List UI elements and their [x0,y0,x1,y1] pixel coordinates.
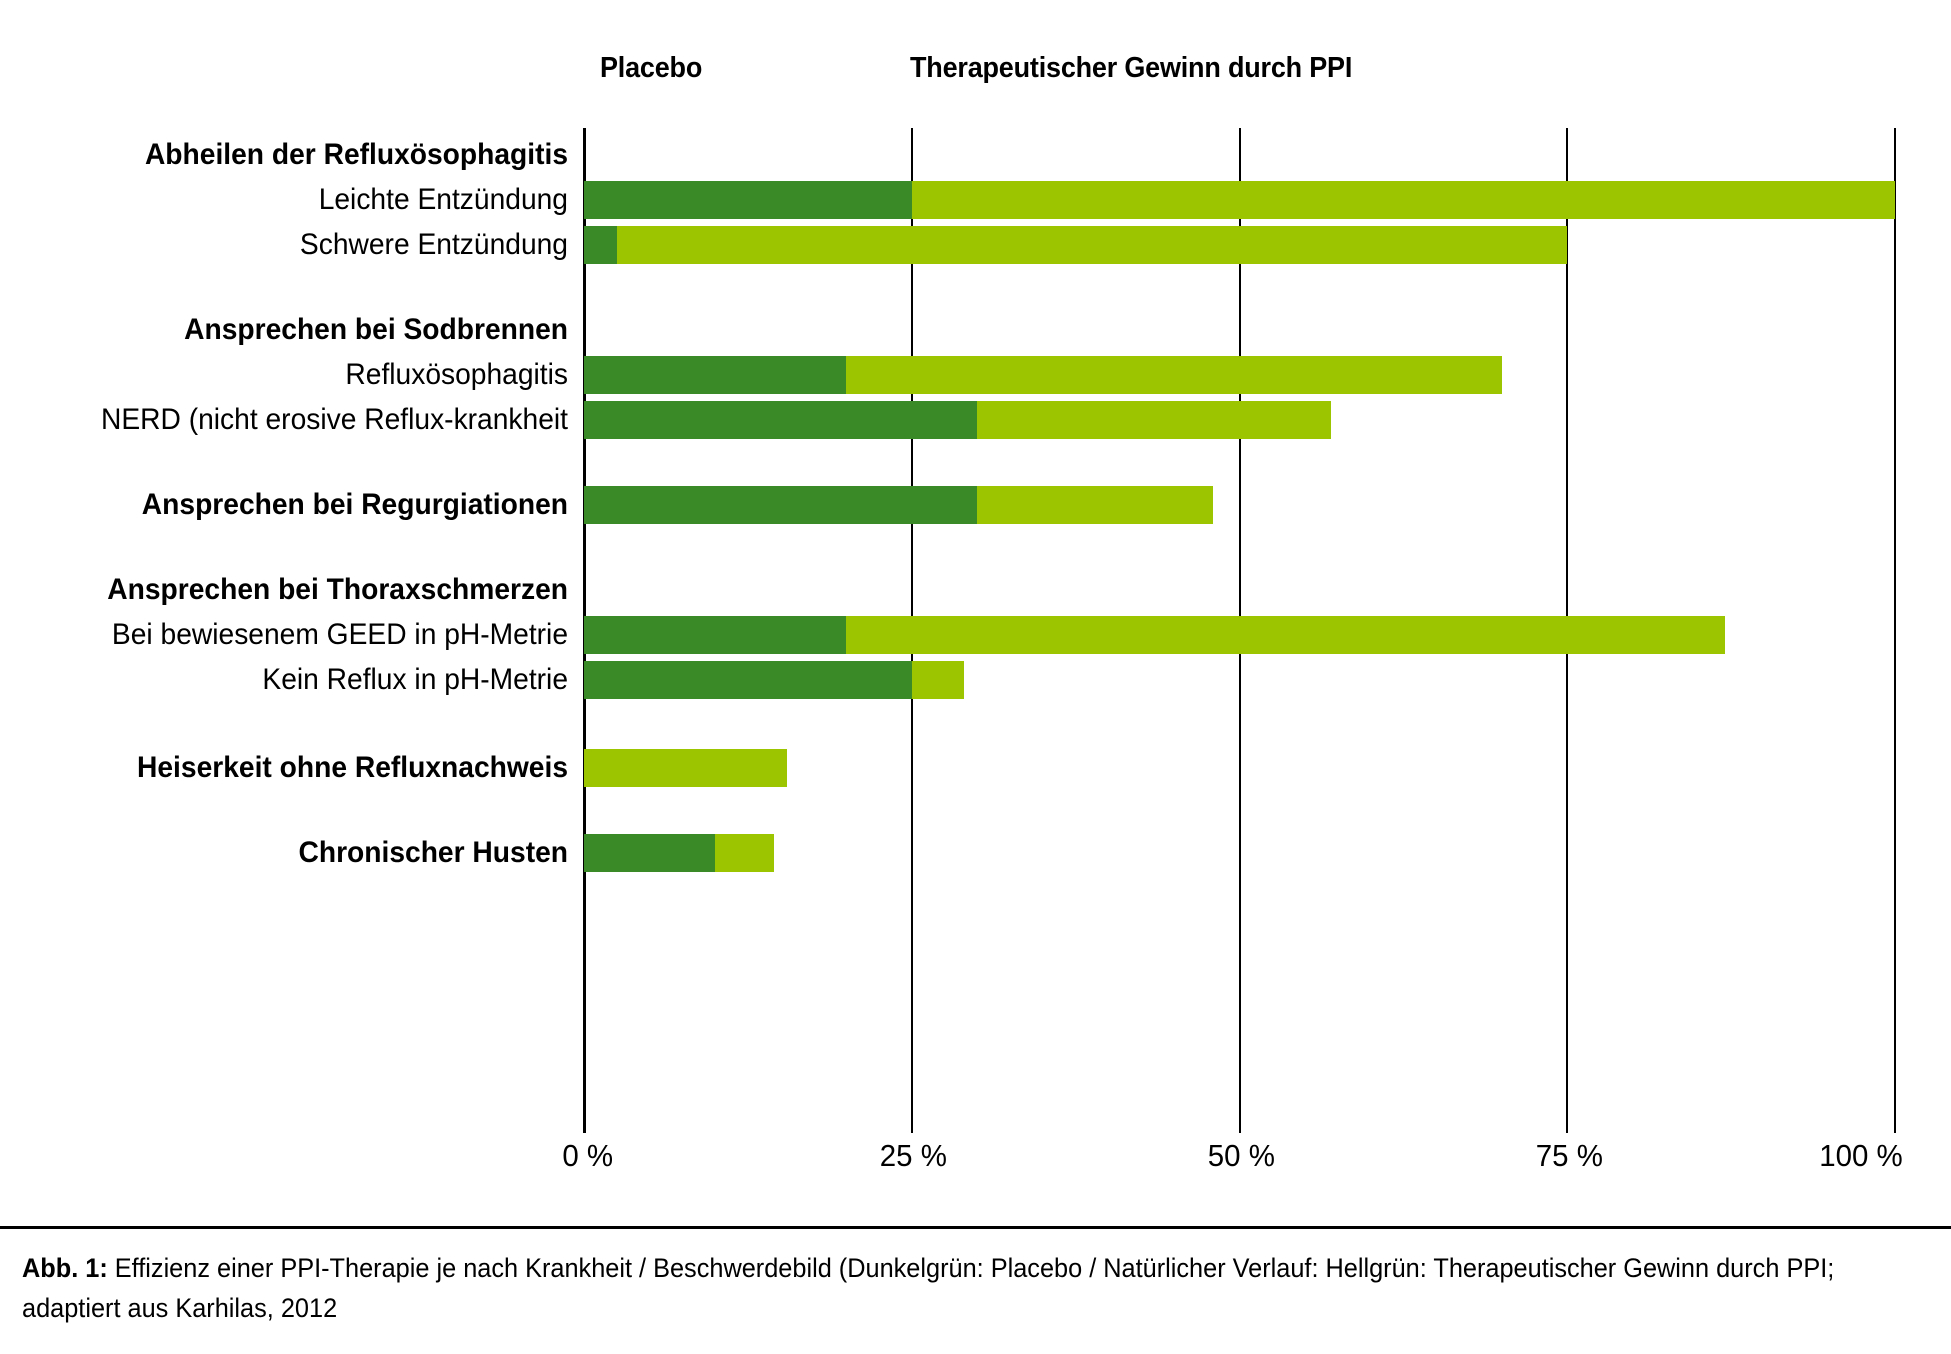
bar-row [584,749,787,787]
chart-legend: Placebo Therapeutischer Gewinn durch PPI [0,52,1951,96]
bar-row [584,356,1502,394]
bar-segment-placebo [584,356,846,394]
x-tick-75: 75 % [1535,1138,1602,1174]
bar-segment-therapeutic-gain [912,661,964,699]
x-tick-100: 100 % [1820,1138,1904,1174]
legend-item-therapeutic-gain: Therapeutischer Gewinn durch PPI [910,52,1352,85]
bar-segment-therapeutic-gain [846,356,1502,394]
caption-prefix: Abb. 1: [22,1253,108,1283]
bar-segment-placebo [584,616,846,654]
x-tick-50: 50 % [1208,1138,1275,1174]
bar-segment-therapeutic-gain [977,486,1213,524]
x-axis-tick-labels: 0 %25 %50 %75 %100 % [0,1138,1951,1190]
caption-text: Effizienz einer PPI-Therapie je nach Kra… [22,1253,1834,1323]
bar-row [584,661,964,699]
bar-segment-placebo [584,181,912,219]
x-tick-0: 0 % [563,1138,614,1174]
bar-row [584,181,1895,219]
x-tick-25: 25 % [880,1138,947,1174]
bar-row [584,486,1213,524]
bar-row [584,834,774,872]
bar-segment-therapeutic-gain [912,181,1895,219]
bar-segment-placebo [584,401,977,439]
bar-segment-therapeutic-gain [977,401,1331,439]
bar-segment-therapeutic-gain [715,834,774,872]
bars-container [0,128,1951,1133]
bar-row [584,401,1331,439]
bar-segment-placebo [584,226,617,264]
figure-panel: Placebo Therapeutischer Gewinn durch PPI… [0,0,1951,1354]
bar-row [584,616,1725,654]
figure-caption: Abb. 1: Effizienz einer PPI-Therapie je … [22,1248,1846,1328]
legend-item-placebo: Placebo [600,52,702,85]
plot-area: Abheilen der RefluxösophagitisLeichte En… [0,128,1951,1138]
bar-segment-therapeutic-gain [617,226,1567,264]
bar-row [584,226,1567,264]
bar-segment-placebo [584,661,912,699]
bar-segment-therapeutic-gain [584,749,787,787]
bar-segment-placebo [584,486,977,524]
caption-divider [0,1226,1951,1229]
bar-segment-therapeutic-gain [846,616,1724,654]
bar-segment-placebo [584,834,715,872]
